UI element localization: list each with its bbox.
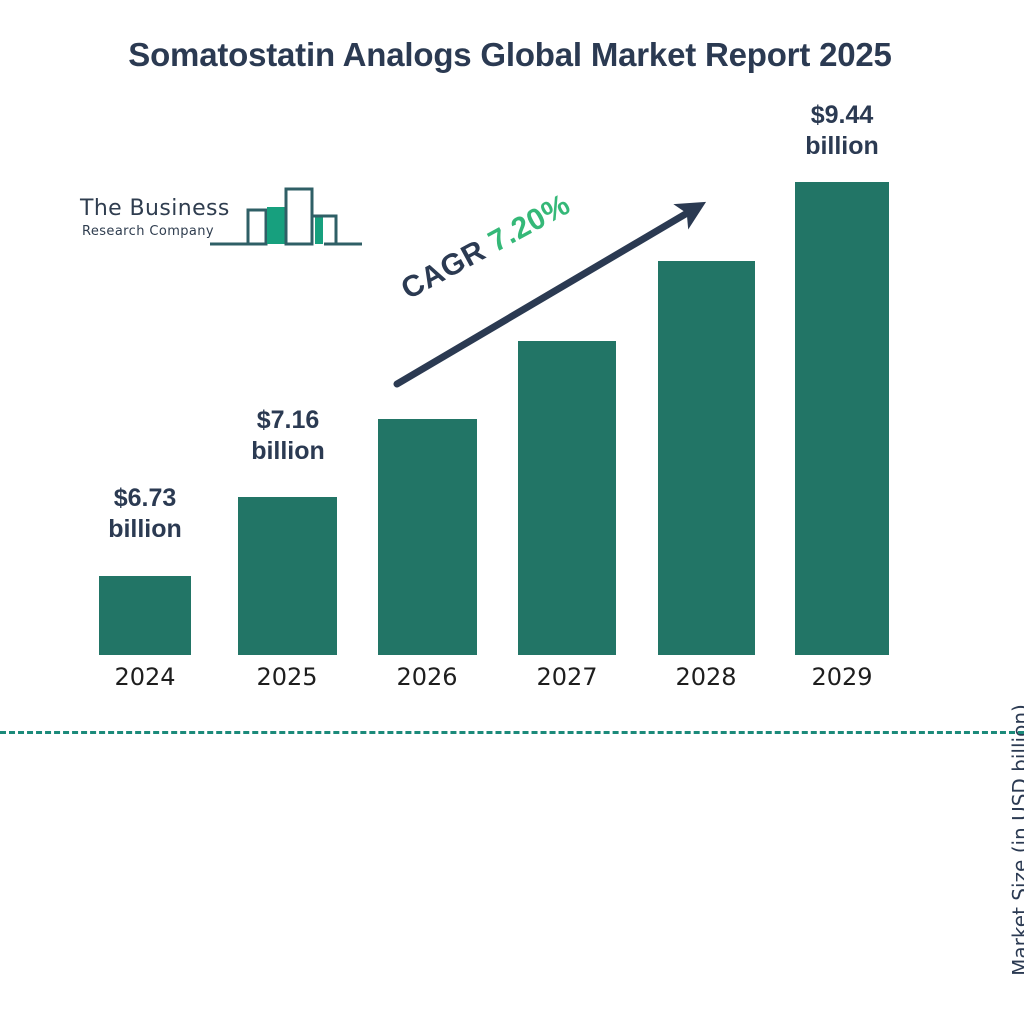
bar-2024[interactable] [99, 576, 191, 655]
bar-label-2024-value: $6.73 [75, 483, 215, 514]
bar-2025[interactable] [238, 497, 337, 655]
bar-label-2024-unit: billion [75, 514, 215, 545]
bar-chart: CAGR 7.20% $6.73 billion $7.16 billion $… [0, 0, 1024, 768]
x-tick-2025: 2025 [217, 663, 357, 691]
cagr-label: CAGR [396, 234, 491, 306]
bar-2028[interactable] [658, 261, 755, 655]
bar-2029[interactable] [795, 182, 889, 655]
cagr-annotation: CAGR 7.20% [396, 188, 576, 307]
bar-2026[interactable] [378, 419, 477, 655]
y-axis-label: Market Size (in USD billion) [1008, 660, 1024, 1020]
bar-label-2025-value: $7.16 [218, 405, 358, 436]
cagr-value: 7.20% [483, 188, 576, 259]
bar-2027[interactable] [518, 341, 616, 655]
bar-label-2029: $9.44 billion [772, 100, 912, 161]
bar-label-2025: $7.16 billion [218, 405, 358, 466]
x-tick-2029: 2029 [772, 663, 912, 691]
x-tick-2026: 2026 [357, 663, 497, 691]
bar-label-2024: $6.73 billion [75, 483, 215, 544]
x-tick-2028: 2028 [636, 663, 776, 691]
x-tick-2024: 2024 [75, 663, 215, 691]
bar-label-2025-unit: billion [218, 436, 358, 467]
bar-label-2029-unit: billion [772, 131, 912, 162]
bar-label-2029-value: $9.44 [772, 100, 912, 131]
footer-divider [0, 731, 1024, 734]
x-tick-2027: 2027 [497, 663, 637, 691]
